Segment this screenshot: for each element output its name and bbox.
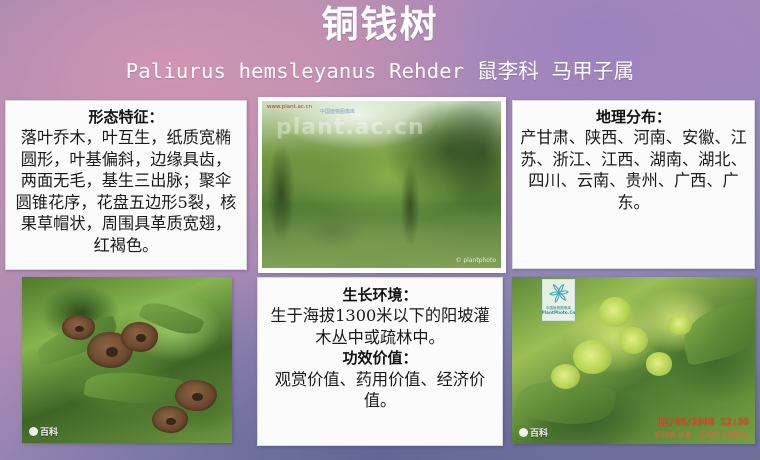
presentation-slide: 铜钱树 Paliurus hemsleyanus Rehder 鼠李科 马甲子属… — [0, 0, 760, 460]
distribution-text: 产甘肃、陕西、河南、安徽、江苏、浙江、江西、湖南、湖北、四川、云南、贵州、广西、… — [520, 127, 747, 213]
fruit-shape — [121, 322, 159, 352]
plantphoto-logo-en: PlantPhoto.Cn — [542, 310, 576, 315]
page-subtitle: Paliurus hemsleyanus Rehder 鼠李科 马甲子属 — [0, 47, 760, 84]
morphology-text: 落叶乔木，叶互生，纸质宽椭圆形，叶基偏斜，边缘具齿，两面无毛，基生三出脉；聚伞圆… — [13, 127, 239, 256]
flower-shape — [646, 352, 673, 375]
baidu-baike-watermark: 百科 — [29, 425, 58, 438]
fruit-shape — [175, 380, 217, 412]
pinwheel-flower-icon — [548, 282, 570, 304]
habitat-watermark-corner: © plantphoto — [455, 257, 496, 264]
environment-card: 生长环境： 生于海拔1300米以下的阳坡灌木丛中或疏林中。 功效价值： 观赏价值… — [257, 277, 503, 446]
leaf-shape — [677, 298, 755, 367]
flower-shape — [599, 297, 631, 327]
flower-shape — [573, 340, 612, 373]
baike-watermark-label: 百科 — [40, 425, 58, 438]
distribution-heading: 地理分布： — [520, 107, 747, 127]
fruit-photo: 百科 — [22, 277, 232, 443]
habitat-watermark-cn: 中国植物图像库 — [320, 108, 355, 115]
photo-caption: 铜钱树 摄影：王翔宇 109892 — [655, 430, 749, 440]
morphology-heading: 形态特征： — [13, 107, 239, 127]
baidu-baike-watermark: 百科 — [519, 426, 548, 439]
flower-shape — [668, 314, 692, 336]
fruit-shape — [152, 406, 188, 433]
flower-photo: 中国植物图像库 PlantPhoto.Cn 百科 12/06/2008 12:3… — [512, 277, 755, 444]
environment-heading: 生长环境： — [265, 285, 495, 305]
paw-icon — [519, 428, 528, 437]
leaf-shape — [83, 367, 183, 410]
flower-shape — [551, 364, 580, 389]
value-heading: 功效价值： — [265, 348, 495, 368]
habitat-watermark-large: plant.ac.cn — [276, 115, 425, 140]
habitat-photo-image: www.plant.ac.cn 中国植物图像库 plant.ac.cn © pl… — [262, 101, 501, 268]
value-text: 观赏价值、药用价值、经济价值。 — [265, 369, 495, 412]
morphology-card: 形态特征： 落叶乔木，叶互生，纸质宽椭圆形，叶基偏斜，边缘具齿，两面无毛，基生三… — [5, 100, 247, 270]
environment-text: 生于海拔1300米以下的阳坡灌木丛中或疏林中。 — [265, 305, 495, 348]
habitat-watermark-url: www.plant.ac.cn — [267, 104, 312, 110]
plantphoto-logo: 中国植物图像库 PlantPhoto.Cn — [542, 279, 575, 321]
flower-shape — [619, 327, 648, 354]
habitat-photo: www.plant.ac.cn 中国植物图像库 plant.ac.cn © pl… — [258, 97, 506, 273]
paw-icon — [29, 427, 38, 436]
slide-header: 铜钱树 Paliurus hemsleyanus Rehder 鼠李科 马甲子属 — [0, 0, 760, 92]
photo-timestamp: 12/06/2008 12:30 — [657, 417, 749, 428]
distribution-card: 地理分布： 产甘肃、陕西、河南、安徽、江苏、浙江、江西、湖南、湖北、四川、云南、… — [512, 100, 755, 269]
baike-watermark-label: 百科 — [530, 426, 548, 439]
page-title: 铜钱树 — [0, 0, 760, 47]
